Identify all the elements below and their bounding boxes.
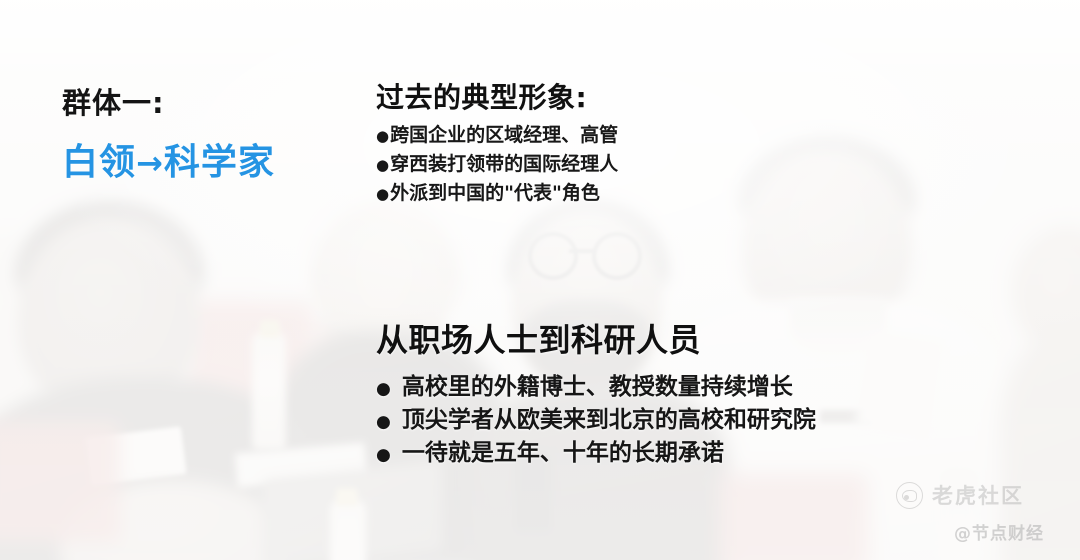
bullet-icon: ● [376,381,391,398]
group-value-to: 科学家 [164,141,275,183]
presentation-slide: 群体一: 白领→科学家 过去的典型形象: ● 跨国企业的区域经理、高管 ● 穿西… [0,0,1080,560]
list-item: ● 一待就是五年、十年的长期承诺 [376,437,896,470]
past-image-heading: 过去的典型形象: [376,80,796,115]
list-item-text: 顶尖学者从欧美来到北京的高校和研究院 [402,404,816,437]
right-arrow-icon: → [136,144,164,182]
tiger-circle-logo-icon [896,482,923,509]
group-transition-title: 白领→科学家 [62,133,275,185]
list-item-text: 跨国企业的区域经理、高管 [390,121,618,150]
slide-text-layer: 群体一: 白领→科学家 过去的典型形象: ● 跨国企业的区域经理、高管 ● 穿西… [0,0,1080,560]
list-item: ● 外派到中国的"代表"角色 [376,179,796,208]
list-item: ● 顶尖学者从欧美来到北京的高校和研究院 [376,404,896,437]
group-label: 群体一: [62,80,165,122]
list-item: ● 跨国企业的区域经理、高管 [376,121,796,150]
group-value-from: 白领 [62,141,136,183]
list-item-text: 外派到中国的"代表"角色 [390,179,600,208]
current-trend-list: ● 高校里的外籍博士、教授数量持续增长 ● 顶尖学者从欧美来到北京的高校和研究院… [376,371,896,471]
current-trend-heading: 从职场人士到科研人员 [376,320,896,362]
bullet-icon: ● [376,414,391,431]
bullet-icon: ● [376,158,389,173]
current-trend-block: 从职场人士到科研人员 ● 高校里的外籍博士、教授数量持续增长 ● 顶尖学者从欧美… [376,320,896,471]
past-image-list: ● 跨国企业的区域经理、高管 ● 穿西装打领带的国际经理人 ● 外派到中国的"代… [376,121,796,208]
list-item: ● 高校里的外籍博士、教授数量持续增长 [376,371,896,404]
bullet-icon: ● [376,129,389,144]
bullet-icon: ● [376,447,391,464]
past-image-block: 过去的典型形象: ● 跨国企业的区域经理、高管 ● 穿西装打领带的国际经理人 ●… [376,80,796,208]
watermark-handle: @节点财经 [954,519,1044,544]
bullet-icon: ● [376,187,389,202]
list-item-text: 一待就是五年、十年的长期承诺 [402,437,724,470]
watermark-brand: 老虎社区 [896,480,1024,510]
list-item-text: 穿西装打领带的国际经理人 [390,150,618,179]
list-item: ● 穿西装打领带的国际经理人 [376,150,796,179]
list-item-text: 高校里的外籍博士、教授数量持续增长 [402,371,793,404]
watermark-brand-text: 老虎社区 [932,480,1024,510]
